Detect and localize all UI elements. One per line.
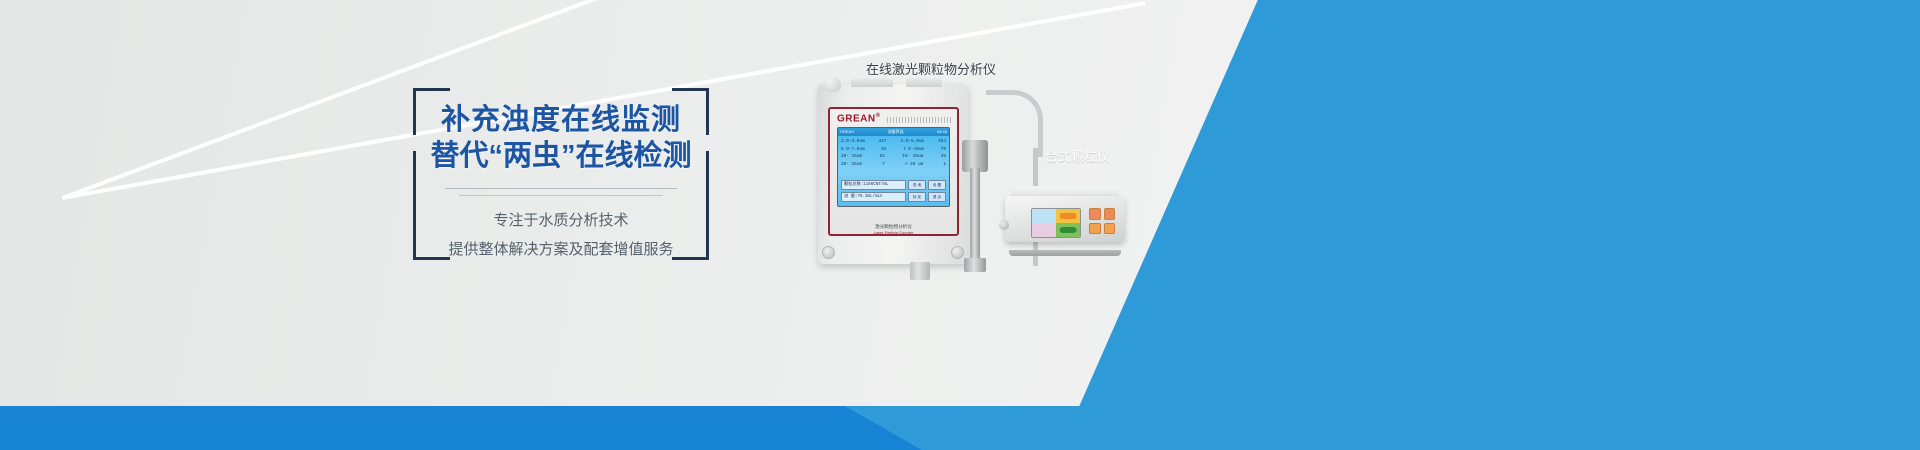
lcd-count-b: 35 <box>941 153 946 161</box>
analyzer-brand: GREAN® <box>837 113 881 124</box>
headline-frame: 补充浊度在线监测 替代“两虫”在线检测 专注于水质分析技术 提供整体解决方案及配… <box>413 88 709 260</box>
benchtop-display[interactable] <box>1031 208 1081 238</box>
lcd-count-a: 447 <box>879 138 887 146</box>
lcd-button-exit[interactable]: 退 出 <box>928 192 946 202</box>
divider-rule-upper <box>445 188 677 189</box>
lcd-count-b: 1 <box>943 161 946 169</box>
lcd-range-a: 20- 25um <box>841 161 862 169</box>
lcd-count-b: 76 <box>941 146 946 154</box>
online-laser-particle-analyzer: GREAN® GREAN 测量界面 08:46 2.0-3.0um 447 3.… <box>818 84 968 264</box>
lcd-row: 10- 15um 52 15- 20um 35 <box>841 153 946 161</box>
subtitle-line-1: 专注于水质分析技术 <box>413 206 709 235</box>
analyzer-side-stem <box>970 168 980 268</box>
benchtop-tile-4 <box>1056 223 1080 237</box>
lcd-range-b: > 25 um <box>905 161 923 169</box>
lcd-range-a: 5.0-7.0um <box>841 146 865 154</box>
lcd-readout-fields: 颗粒总数:1166CNT/mL 查 询 设 置 流 量:79.2mL/min 标… <box>841 180 946 204</box>
benchtop-keypad[interactable] <box>1089 208 1115 234</box>
lcd-count-a: 52 <box>880 153 885 161</box>
lcd-title-left: GREAN <box>840 128 854 136</box>
lcd-button-calibrate[interactable]: 标 定 <box>908 192 926 202</box>
benchtop-key-3[interactable] <box>1089 223 1101 235</box>
label-online-analyzer: 在线激光颗粒物分析仪 <box>866 59 996 78</box>
lcd-row: 20- 25um 7 > 25 um 1 <box>841 161 946 169</box>
lcd-row: 5.0-7.0um 94 7.0-10um 76 <box>841 146 946 154</box>
lcd-range-b: 7.0-10um <box>903 146 924 154</box>
benchtop-key-4[interactable] <box>1104 223 1116 235</box>
lcd-button-settings[interactable]: 设 置 <box>928 180 946 190</box>
lcd-range-b: 3.0-5.0um <box>900 138 924 146</box>
analyzer-vent-hatch <box>887 117 951 123</box>
divider-rule-lower <box>459 195 663 196</box>
benchtop-tile-1 <box>1032 209 1056 223</box>
lcd-title-right: 08:46 <box>937 128 947 136</box>
lcd-total-value: 颗粒总数:1166CNT/mL <box>841 180 906 190</box>
analyzer-side-cap <box>964 258 986 272</box>
analyzer-top-knob <box>824 77 841 92</box>
label-benchtop-counter: 台式颗粒仪 <box>1045 146 1110 165</box>
lcd-range-a: 2.0-3.0um <box>841 138 865 146</box>
analyzer-front-panel: GREAN® GREAN 测量界面 08:46 2.0-3.0um 447 3.… <box>828 107 959 236</box>
lcd-range-b: 15- 20um <box>902 153 923 161</box>
lcd-row: 2.0-3.0um 447 3.0-5.0um 454 <box>841 138 946 146</box>
lcd-button-query[interactable]: 查 询 <box>908 180 926 190</box>
benchtop-tile-2 <box>1056 209 1080 223</box>
lcd-count-b: 454 <box>938 138 946 146</box>
lcd-total-row: 颗粒总数:1166CNT/mL 查 询 设 置 <box>841 180 946 190</box>
benchtop-particle-counter <box>1005 186 1125 252</box>
benchtop-key-2[interactable] <box>1104 208 1116 220</box>
subtitle-line-2: 提供整体解决方案及配套增值服务 <box>413 235 709 264</box>
brand-registered-mark: ® <box>876 113 881 119</box>
hero-banner: 补充浊度在线监测 替代“两虫”在线检测 专注于水质分析技术 提供整体解决方案及配… <box>0 0 1920 450</box>
analyzer-screw-bottom-left <box>822 246 835 259</box>
lcd-range-a: 10- 15um <box>841 153 862 161</box>
lcd-count-a: 7 <box>882 161 885 169</box>
lcd-title-center: 测量界面 <box>888 128 904 136</box>
headline-line-1: 补充浊度在线监测 <box>395 102 727 138</box>
benchtop-side-knob <box>999 220 1009 230</box>
brand-text: GREAN <box>837 113 876 124</box>
headline: 补充浊度在线监测 替代“两虫”在线检测 <box>395 102 727 174</box>
lcd-flow-value: 流 量:79.2mL/min <box>841 192 906 202</box>
benchtop-tile-2-pill <box>1060 213 1077 219</box>
analyzer-top-tab-right <box>906 78 942 87</box>
benchtop-key-1[interactable] <box>1089 208 1101 220</box>
lcd-flow-row: 流 量:79.2mL/min 标 定 退 出 <box>841 192 946 202</box>
headline-line-2: 替代“两虫”在线检测 <box>395 138 727 174</box>
analyzer-top-tab-left <box>851 78 893 87</box>
benchtop-tile-4-pill <box>1060 227 1077 233</box>
analyzer-cable-gland <box>910 262 930 280</box>
lcd-measurement-grid: 2.0-3.0um 447 3.0-5.0um 454 5.0-7.0um 94… <box>838 136 949 170</box>
lcd-title-bar: GREAN 测量界面 08:46 <box>838 128 949 136</box>
analyzer-caption: 激光颗粒物分析仪 Laser Particle Counter <box>830 224 957 236</box>
benchtop-base <box>1009 250 1121 256</box>
lcd-count-a: 94 <box>881 146 886 154</box>
analyzer-screw-bottom-right <box>951 246 964 259</box>
subtitle-group: 专注于水质分析技术 提供整体解决方案及配套增值服务 <box>413 206 709 264</box>
analyzer-lcd-screen[interactable]: GREAN 测量界面 08:46 2.0-3.0um 447 3.0-5.0um… <box>837 127 950 207</box>
analyzer-caption-en: Laser Particle Counter <box>830 230 957 236</box>
benchtop-tile-3 <box>1032 223 1056 237</box>
sample-tube-bend <box>986 90 1043 157</box>
divider-rules <box>445 188 677 196</box>
